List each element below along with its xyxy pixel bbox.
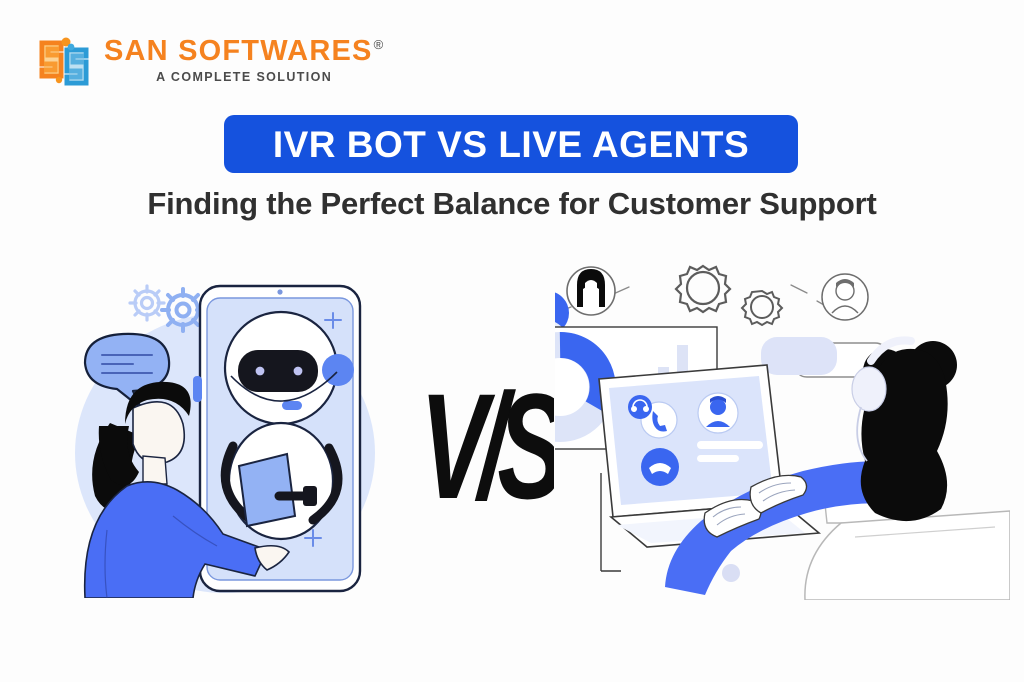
headset-badge-icon <box>628 395 652 419</box>
page-subtitle: Finding the Perfect Balance for Customer… <box>0 186 1024 222</box>
brand-wordmark: SAN SOFTWARES® A COMPLETE SOLUTION <box>104 33 384 84</box>
illustration-live-agent <box>555 255 1010 600</box>
avatar-icon-outline <box>567 267 615 315</box>
brand-name-text: SAN SOFTWARES <box>104 35 373 67</box>
ivr-chatbot-artwork <box>55 258 395 598</box>
brand-logo[interactable]: SAN SOFTWARES® A COMPLETE SOLUTION <box>38 33 384 87</box>
versus-label: V/S <box>424 362 554 528</box>
versus-glyph-icon: V/S <box>424 358 554 528</box>
gear-icon <box>162 289 204 331</box>
gear-icon <box>742 291 782 325</box>
san-softwares-double-s-logo-icon <box>38 33 94 87</box>
avatar-icon <box>698 393 738 433</box>
avatar-icon-outline <box>822 274 868 320</box>
registered-trademark-icon: ® <box>374 37 385 52</box>
brand-name: SAN SOFTWARES® <box>104 37 384 66</box>
phone-side-button <box>193 376 202 402</box>
promo-banner: SAN SOFTWARES® A COMPLETE SOLUTION IVR B… <box>0 0 1024 682</box>
versus-mark: V/S <box>424 358 554 528</box>
end-call-icon <box>641 448 679 486</box>
page-title: IVR BOT VS LIVE AGENTS <box>273 126 749 163</box>
title-banner: IVR BOT VS LIVE AGENTS <box>224 115 798 173</box>
live-agent-artwork <box>555 255 1010 600</box>
gear-icon <box>130 286 164 320</box>
brand-tagline: A COMPLETE SOLUTION <box>104 70 384 84</box>
phone-camera-dot <box>277 289 282 294</box>
illustration-ivr-chatbot <box>55 258 395 598</box>
gear-icon <box>676 266 730 312</box>
